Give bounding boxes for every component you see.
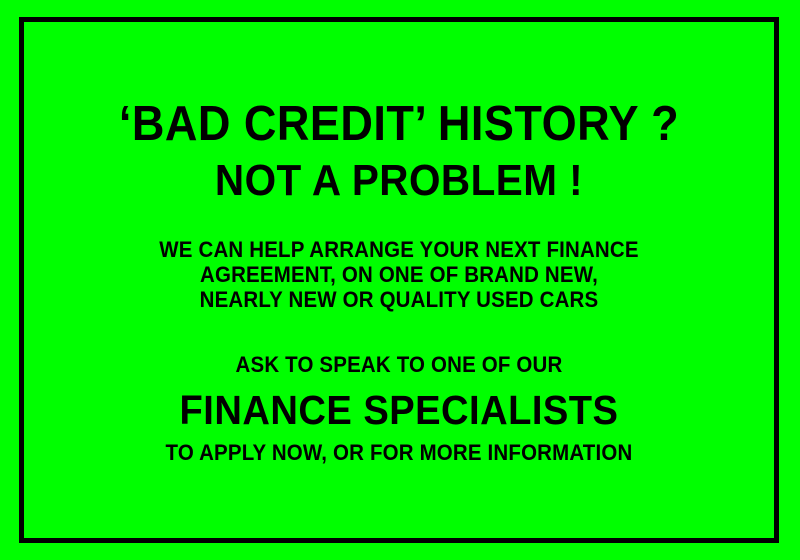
- headline-line-1: ‘BAD CREDIT’ HISTORY ?: [54, 98, 744, 150]
- body-text-block: WE CAN HELP ARRANGE YOUR NEXT FINANCE AG…: [24, 237, 774, 312]
- call-to-action-block: ASK TO SPEAK TO ONE OF OUR FINANCE SPECI…: [24, 352, 774, 466]
- call-to-action-footer: TO APPLY NOW, OR FOR MORE INFORMATION: [50, 440, 748, 466]
- body-line-3: NEARLY NEW OR QUALITY USED CARS: [50, 287, 748, 312]
- body-line-2: AGREEMENT, ON ONE OF BRAND NEW,: [50, 262, 748, 287]
- body-line-1: WE CAN HELP ARRANGE YOUR NEXT FINANCE: [50, 237, 748, 262]
- call-to-action-emphasis: FINANCE SPECIALISTS: [50, 385, 748, 435]
- poster-content: ‘BAD CREDIT’ HISTORY ? NOT A PROBLEM ! W…: [24, 22, 774, 538]
- headline-line-2: NOT A PROBLEM !: [54, 157, 744, 205]
- advertisement-poster: ‘BAD CREDIT’ HISTORY ? NOT A PROBLEM ! W…: [0, 0, 800, 560]
- call-to-action-subhead: ASK TO SPEAK TO ONE OF OUR: [50, 352, 748, 378]
